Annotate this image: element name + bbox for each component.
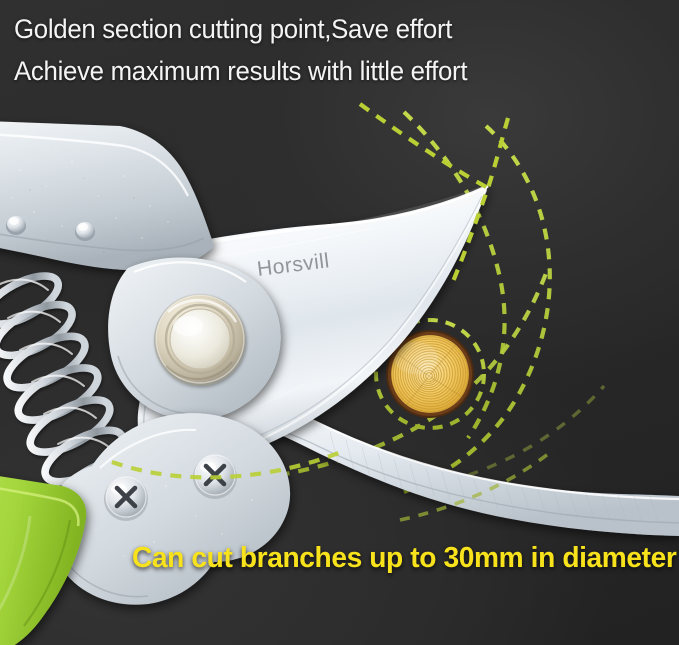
guide-arc-cross-b <box>452 118 508 284</box>
product-marketing-image: Horsvill <box>0 0 679 645</box>
guide-arc-lower-overlay <box>112 450 346 477</box>
guide-arc-cross-a <box>360 104 488 188</box>
bottom-caption: Can cut branches up to 30mm in diameter <box>132 541 676 575</box>
guide-arc-bottom-tail <box>400 454 548 520</box>
